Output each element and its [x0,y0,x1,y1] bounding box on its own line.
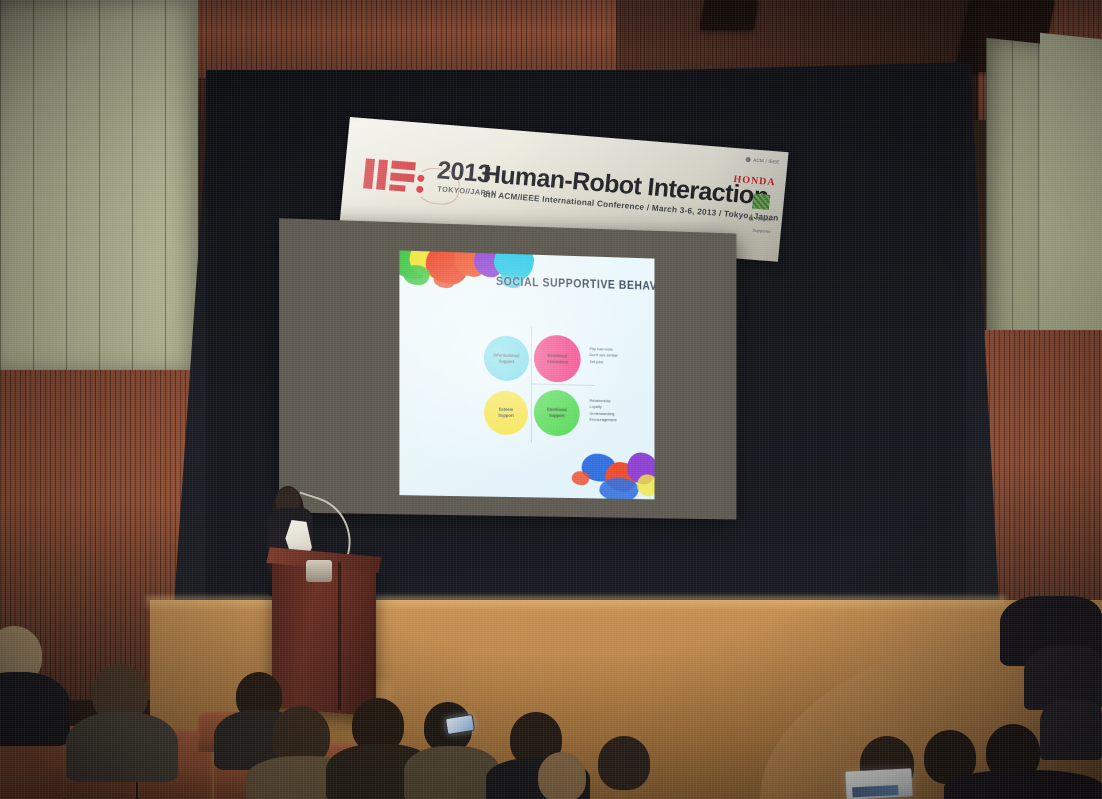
circle-informational-support: InformationalSupport [484,335,529,381]
presentation-slide: SOCIAL SUPPORTIVE BEHAVIOURS Information… [399,250,654,499]
circle-label: EmotionalAssistance [547,353,568,365]
lectern-equipment [306,560,332,582]
projection-screen: SOCIAL SUPPORTIVE BEHAVIOURS Information… [279,218,736,519]
circle-label: EsteemSupport [498,407,514,418]
circle-emotional-support: EmotionalSupport [534,390,580,437]
audience-head [538,752,586,799]
audience-shoulders [0,672,70,746]
circle-label: InformationalSupport [494,353,520,365]
lectern-edge [338,562,341,710]
laptop-display [852,785,898,797]
circle-label: EmotionalSupport [547,407,567,418]
audience-shoulders [66,712,178,782]
audience-head [598,736,650,790]
slide-list-upper: Pity had nose Don't see similar Tell jok… [589,346,617,366]
ceiling-speaker-left [700,0,758,30]
circle-esteem-support: EsteemSupport [484,390,528,435]
slide-title: SOCIAL SUPPORTIVE BEHAVIOURS [496,275,654,294]
audience-shoulders [944,770,1102,799]
slide-divider-horizontal [531,383,594,386]
audience-side-figure [1040,700,1102,760]
conference-photo: 2013 TOKYO//JAPAN Human-Robot Interactio… [0,0,1102,799]
upper-left-wood-wall [196,0,616,78]
list-item: Encouragement [589,417,616,424]
list-item: Tell joke [589,359,617,366]
circle-emotional-assistance: EmotionalAssistance [534,335,581,383]
audience-laptop-screen [845,768,912,799]
acoustic-panel-left [0,0,198,372]
slide-list-lower: Relationship Loyalty Understanding Encou… [589,398,616,424]
acoustic-panel-right-outer [1040,33,1102,380]
